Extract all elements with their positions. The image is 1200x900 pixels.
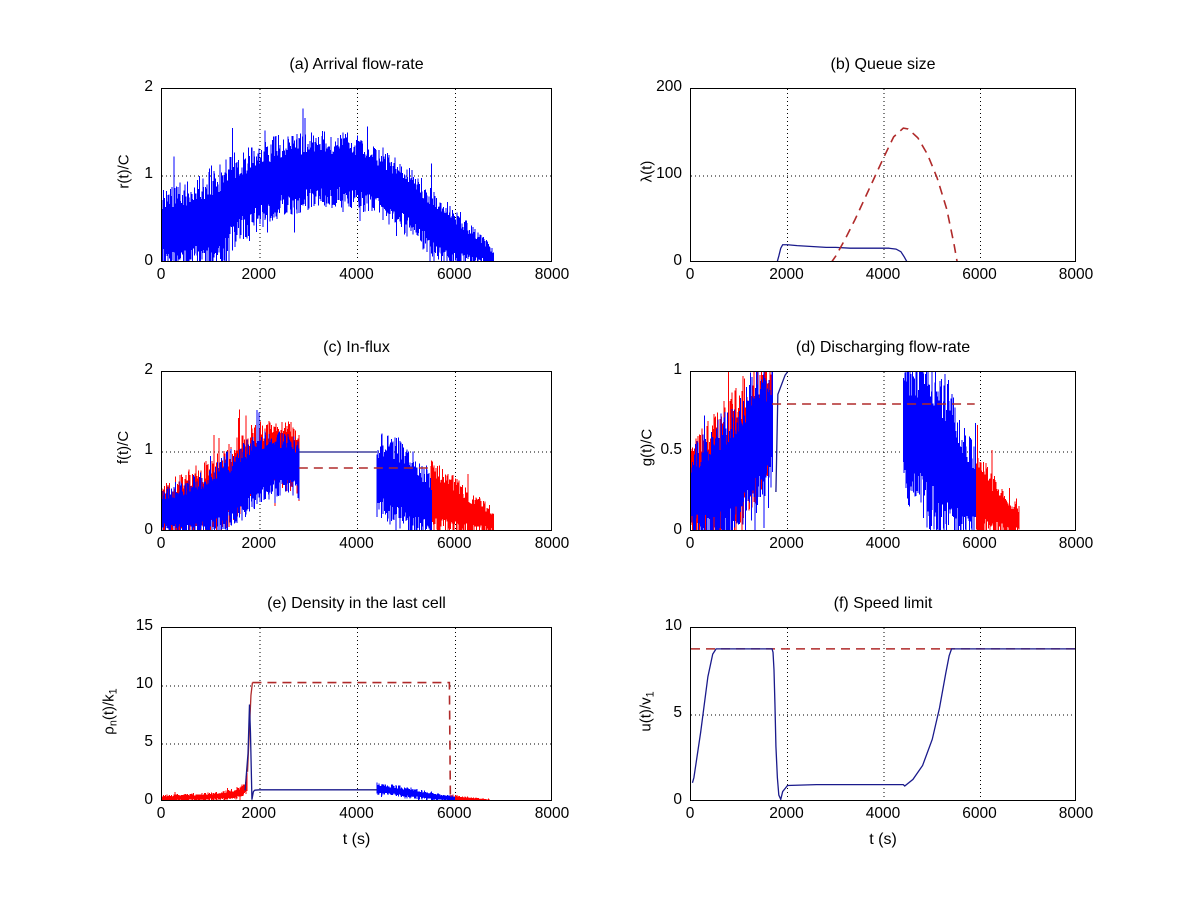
xtick-label: 8000 [1036,266,1116,284]
ytick-label: 1 [598,361,682,379]
xtick-label: 0 [650,535,730,553]
xlabel-f: t (s) [690,831,1076,849]
panel-d: (d) Discharging flow-rate020004000600080… [0,0,1200,900]
panel-e: (e) Density in the last cell020004000600… [0,0,1200,900]
ytick-label: 100 [598,165,682,183]
xtick-label: 0 [650,266,730,284]
xtick-label: 2000 [219,805,299,823]
plot-area-f [690,627,1076,801]
ytick-label: 2 [69,361,153,379]
ytick-label: 1 [69,165,153,183]
panel-a: (a) Arrival flow-rate0200040006000800001… [0,0,1200,900]
panel-title-d: (d) Discharging flow-rate [690,339,1076,357]
series-line [252,683,450,797]
panel-b: (b) Queue size020004000600080000100200λ(… [0,0,1200,900]
ytick-label: 200 [598,78,682,96]
xtick-label: 4000 [843,805,923,823]
xtick-label: 8000 [512,535,592,553]
plot-area-a [161,88,552,262]
xtick-label: 6000 [940,266,1020,284]
ylabel-b: λ(t) [587,163,707,180]
xtick-label: 6000 [414,266,494,284]
ytick-label: 10 [69,675,153,693]
ytick-label: 0 [69,521,153,539]
ylabel-c: f(t)/C [64,439,184,456]
xtick-label: 8000 [512,266,592,284]
plot-area-c [161,371,552,531]
ytick-label: 0 [598,252,682,270]
series-line [248,683,253,772]
ytick-label: 10 [598,617,682,635]
xtick-label: 0 [650,805,730,823]
xtick-label: 4000 [317,805,397,823]
series-line [776,372,788,492]
ylabel-e: ρn(t)/k1 [50,702,170,721]
xtick-label: 6000 [940,805,1020,823]
xtick-label: 0 [121,535,201,553]
xlabel-e: t (s) [161,831,552,849]
xtick-label: 4000 [843,535,923,553]
ytick-label: 0 [69,252,153,270]
xtick-label: 0 [121,266,201,284]
ytick-label: 0 [69,791,153,809]
xtick-label: 6000 [940,535,1020,553]
xtick-label: 2000 [747,535,827,553]
ylabel-f: u(t)/v1 [587,702,707,721]
xtick-label: 0 [121,805,201,823]
panel-title-a: (a) Arrival flow-rate [161,56,552,74]
xtick-label: 6000 [414,535,494,553]
xtick-label: 8000 [1036,535,1116,553]
panel-title-f: (f) Speed limit [690,595,1076,613]
xtick-label: 2000 [219,535,299,553]
xtick-label: 2000 [747,805,827,823]
plot-area-e [161,627,552,801]
xtick-label: 2000 [219,266,299,284]
panel-title-c: (c) In-flux [161,339,552,357]
xtick-label: 4000 [317,266,397,284]
ytick-label: 5 [69,733,153,751]
ylabel-d: g(t)/C [587,439,707,456]
xtick-label: 4000 [843,266,923,284]
xtick-label: 4000 [317,535,397,553]
panel-c: (c) In-flux02000400060008000012f(t)/C [0,0,1200,900]
ytick-label: 1 [69,441,153,459]
panel-title-e: (e) Density in the last cell [161,595,552,613]
panel-title-b: (b) Queue size [690,56,1076,74]
ytick-label: 0.5 [598,441,682,459]
ytick-label: 2 [69,78,153,96]
xtick-label: 8000 [1036,805,1116,823]
ytick-label: 15 [69,617,153,635]
series-line [245,705,377,800]
ytick-label: 5 [598,704,682,722]
xtick-label: 8000 [512,805,592,823]
series-line [831,128,957,262]
panel-f: (f) Speed limit020004000600080000510u(t)… [0,0,1200,900]
ytick-label: 0 [598,521,682,539]
series-line [692,649,1076,800]
xtick-label: 2000 [747,266,827,284]
plot-area-b [690,88,1076,262]
series-line [777,245,909,262]
ylabel-a: r(t)/C [64,163,184,180]
plot-area-d [690,371,1076,531]
ytick-label: 0 [598,791,682,809]
figure-canvas: (a) Arrival flow-rate0200040006000800001… [0,0,1200,900]
xtick-label: 6000 [414,805,494,823]
